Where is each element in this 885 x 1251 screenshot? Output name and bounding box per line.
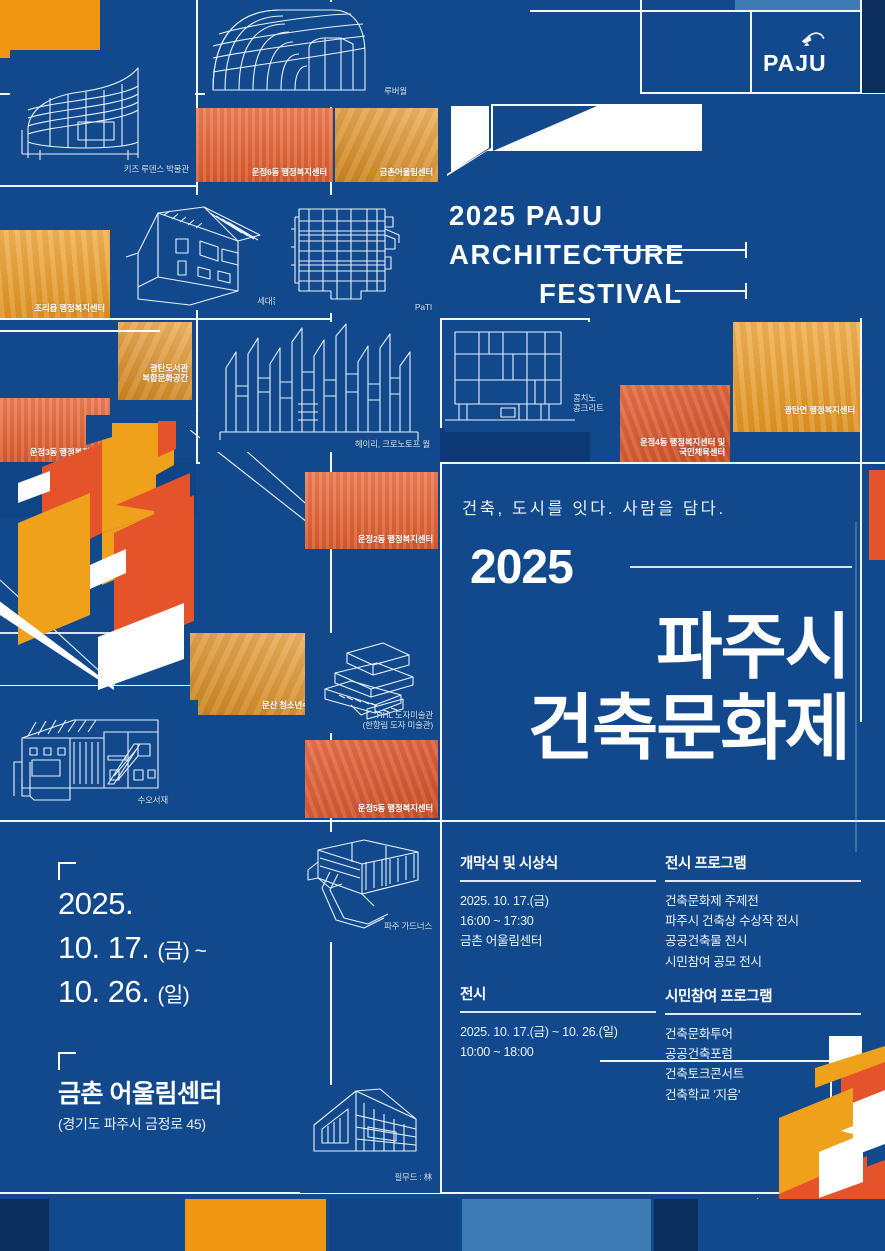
paju-wordmark: PAJU: [763, 50, 827, 77]
building-caption: 운정5동 행정복지센터: [358, 803, 433, 814]
program-item: 2025. 10. 17.(금) ~ 10. 26.(일): [460, 1022, 656, 1042]
building-caption: 운정2동 행정복지센터: [358, 534, 433, 545]
footer-bar: [0, 1199, 49, 1251]
grid-line: [0, 318, 330, 320]
program-rule: [460, 880, 656, 882]
grid-line: [855, 522, 857, 852]
date-line-2: 10. 17. (금) ~: [58, 926, 328, 970]
concino-drawing: [445, 322, 635, 432]
building-caption: PaTI: [415, 302, 432, 313]
tile-hhl-ceramic: HHL 도자미술관 (한향림 도자 미술관): [305, 633, 438, 733]
venue-block: 금촌 어울림센터 (경기도 파주시 금정로 45): [58, 1052, 358, 1134]
title-leader-line: [602, 249, 747, 251]
tile-geumchon-center: 금촌어울림센터: [335, 108, 438, 182]
building-caption: 파주 가드너스: [384, 921, 432, 932]
building-caption: 광탄면 행정복지센터: [784, 405, 855, 416]
tile-louver-wall: 루버월: [205, 2, 415, 107]
hero-kr-line-1: 파주시: [528, 608, 849, 689]
building-caption: 헤이리, 크로노토프 월: [355, 439, 430, 450]
program-exhibition: 전시 2025. 10. 17.(금) ~ 10. 26.(일) 10:00 ~…: [460, 983, 656, 1062]
kids-ludens-drawing: [10, 50, 195, 180]
date-line-3-weekday: (일): [157, 984, 189, 1007]
date-line-1: 2025.: [58, 882, 328, 926]
program-heading: 전시 프로그램: [665, 852, 861, 873]
grid-line: [440, 462, 885, 464]
program-item: 파주시 건축상 수상작 전시: [665, 911, 861, 931]
footer-bar: [52, 1199, 182, 1251]
grid-line: [860, 318, 862, 462]
footer-bar: [329, 1199, 459, 1251]
footer-bar: [185, 1199, 326, 1251]
program-item: 금촌 어울림센터: [460, 931, 656, 951]
date-block: 2025. 10. 17. (금) ~ 10. 26. (일): [58, 862, 328, 1014]
building-caption: 금촌어울림센터: [380, 167, 433, 178]
building-caption: 키즈 루덴스 박물관: [124, 164, 189, 175]
tile-pati: PaTI: [275, 195, 440, 313]
tagline: 건축, 도시를 잇다. 사람을 담다.: [462, 495, 862, 519]
program-list: 2025. 10. 17.(금) ~ 10. 26.(일) 10:00 ~ 18…: [460, 1022, 656, 1063]
pj-monogram-left: [0, 415, 294, 690]
date-line-3-main: 10. 26.: [58, 974, 149, 1009]
corner-bracket-icon: [58, 1052, 76, 1070]
program-item: 16:00 ~ 17:30: [460, 911, 656, 931]
footer-bar: [654, 1199, 697, 1251]
tile-gwangtan-library: 광탄도서관 복합문화공간: [118, 322, 192, 400]
program-rule: [665, 1013, 861, 1015]
grid-line: [0, 1192, 885, 1194]
tile-suoseojae: 수오서재: [8, 700, 198, 812]
date-line-3: 10. 26. (일): [58, 970, 328, 1014]
suoseojae-drawing: [8, 700, 198, 812]
program-rule: [665, 880, 861, 882]
grid-line: [530, 10, 885, 12]
building-caption: 광탄도서관 복합문화공간: [142, 363, 188, 384]
grid-line: [640, 0, 642, 93]
hero-kr-line-2: 건축문화제: [528, 689, 849, 770]
program-opening: 개막식 및 시상식 2025. 10. 17.(금) 16:00 ~ 17:30…: [460, 852, 656, 952]
tile-jori-eup: 조리읍 행정복지센터: [0, 230, 110, 318]
photo-duotone-amber: [118, 322, 192, 400]
grid-line: [440, 318, 590, 320]
title-line-2: ARCHITECTURE: [447, 235, 867, 274]
tile-unjeong6: 운정6동 행정복지센터: [196, 108, 333, 182]
program-list: 건축문화제 주제전 파주시 건축상 수상작 전시 공공건축물 전시 시민참여 공…: [665, 891, 861, 973]
tile-gwangtan-myeon: 광탄면 행정복지센터: [733, 322, 860, 432]
program-heading: 시민참여 프로그램: [665, 985, 861, 1006]
building-caption: 운정4동 행정복지센터 및 국민체육센터: [640, 437, 725, 458]
corner-bracket-icon: [58, 862, 76, 880]
program-item: 10:00 ~ 18:00: [460, 1042, 656, 1062]
program-item: 공공건축물 전시: [665, 931, 861, 951]
hero-korean-title: 파주시 건축문화제: [528, 608, 849, 769]
paju-logo[interactable]: PAJU: [749, 30, 859, 80]
building-caption: HHL 도자미술관 (한향림 도자 미술관): [362, 710, 433, 731]
date-line-2-main: 10. 17.: [58, 930, 149, 965]
venue-name: 금촌 어울림센터: [58, 1052, 358, 1110]
title-leader-tick: [745, 242, 747, 258]
program-rule: [460, 1011, 656, 1013]
footer-color-bars: [0, 1199, 885, 1251]
pj-monogram-left-shape: [0, 415, 294, 690]
title-leader-line: [675, 290, 747, 292]
building-caption: 루버월: [384, 86, 407, 97]
title-line-3: FESTIVAL: [447, 274, 867, 313]
tile-kids-ludens: 키즈 루덴스 박물관: [10, 50, 195, 180]
accent-block-lightblue-top: [735, 0, 860, 10]
venue-address: (경기도 파주시 금정로 45): [58, 1114, 358, 1134]
program-heading: 전시: [460, 983, 656, 1004]
accent-bar-red-right: [869, 470, 885, 560]
tile-unjeong2: 운정2동 행정복지센터: [305, 472, 438, 549]
grid-line: [640, 92, 885, 94]
program-item: 시민참여 공모 전시: [665, 952, 861, 972]
program-list: 2025. 10. 17.(금) 16:00 ~ 17:30 금촌 어울림센터: [460, 891, 656, 952]
title-leader-tick: [745, 283, 747, 299]
program-item: 건축문화제 주제전: [665, 891, 861, 911]
tile-concino: 콩치노 콩크리트: [445, 322, 635, 432]
building-caption: 조리읍 행정복지센터: [34, 303, 105, 314]
program-exhibition-program: 전시 프로그램 건축문화제 주제전 파주시 건축상 수상작 전시 공공건축물 전…: [665, 852, 861, 972]
pati-drawing: [275, 195, 440, 313]
building-caption: 수오서재: [138, 795, 168, 806]
english-title: 2025 PAJU ARCHITECTURE FESTIVAL: [447, 196, 867, 313]
title-line-1: 2025 PAJU: [447, 196, 867, 235]
date-lines: 2025. 10. 17. (금) ~ 10. 26. (일): [58, 862, 328, 1014]
footer-bar: [462, 1199, 652, 1251]
accent-block-deepblue-topright: [862, 0, 885, 93]
festival-mark-shape: [447, 104, 702, 176]
program-heading: 개막식 및 시상식: [460, 852, 656, 873]
tile-unjeong4: 운정4동 행정복지센터 및 국민체육센터: [620, 385, 730, 462]
hero-year: 2025: [470, 540, 573, 595]
grid-line: [0, 820, 885, 822]
building-caption: 콩치노 콩크리트: [573, 393, 603, 414]
building-caption: 운정6동 행정복지센터: [252, 167, 327, 178]
title-leader-line: [0, 330, 160, 332]
program-item: 2025. 10. 17.(금): [460, 891, 656, 911]
accent-block-deepblue-mid: [440, 428, 590, 462]
footer-bar: [701, 1199, 885, 1251]
date-line-2-weekday: (금) ~: [157, 940, 206, 963]
hero-rule: [630, 566, 852, 568]
grid-line: [0, 185, 196, 187]
title-block: 2025 PAJU ARCHITECTURE FESTIVAL: [447, 104, 867, 313]
festival-mark-icon: [447, 104, 702, 176]
tile-unjeong5: 운정5동 행정복지센터: [305, 740, 438, 818]
building-caption: 필무드 : 林: [394, 1172, 432, 1183]
poster-root: 키즈 루덴스 박물관 루버월 운정6동 행정복지센터 금촌어울림센터: [0, 0, 885, 1251]
